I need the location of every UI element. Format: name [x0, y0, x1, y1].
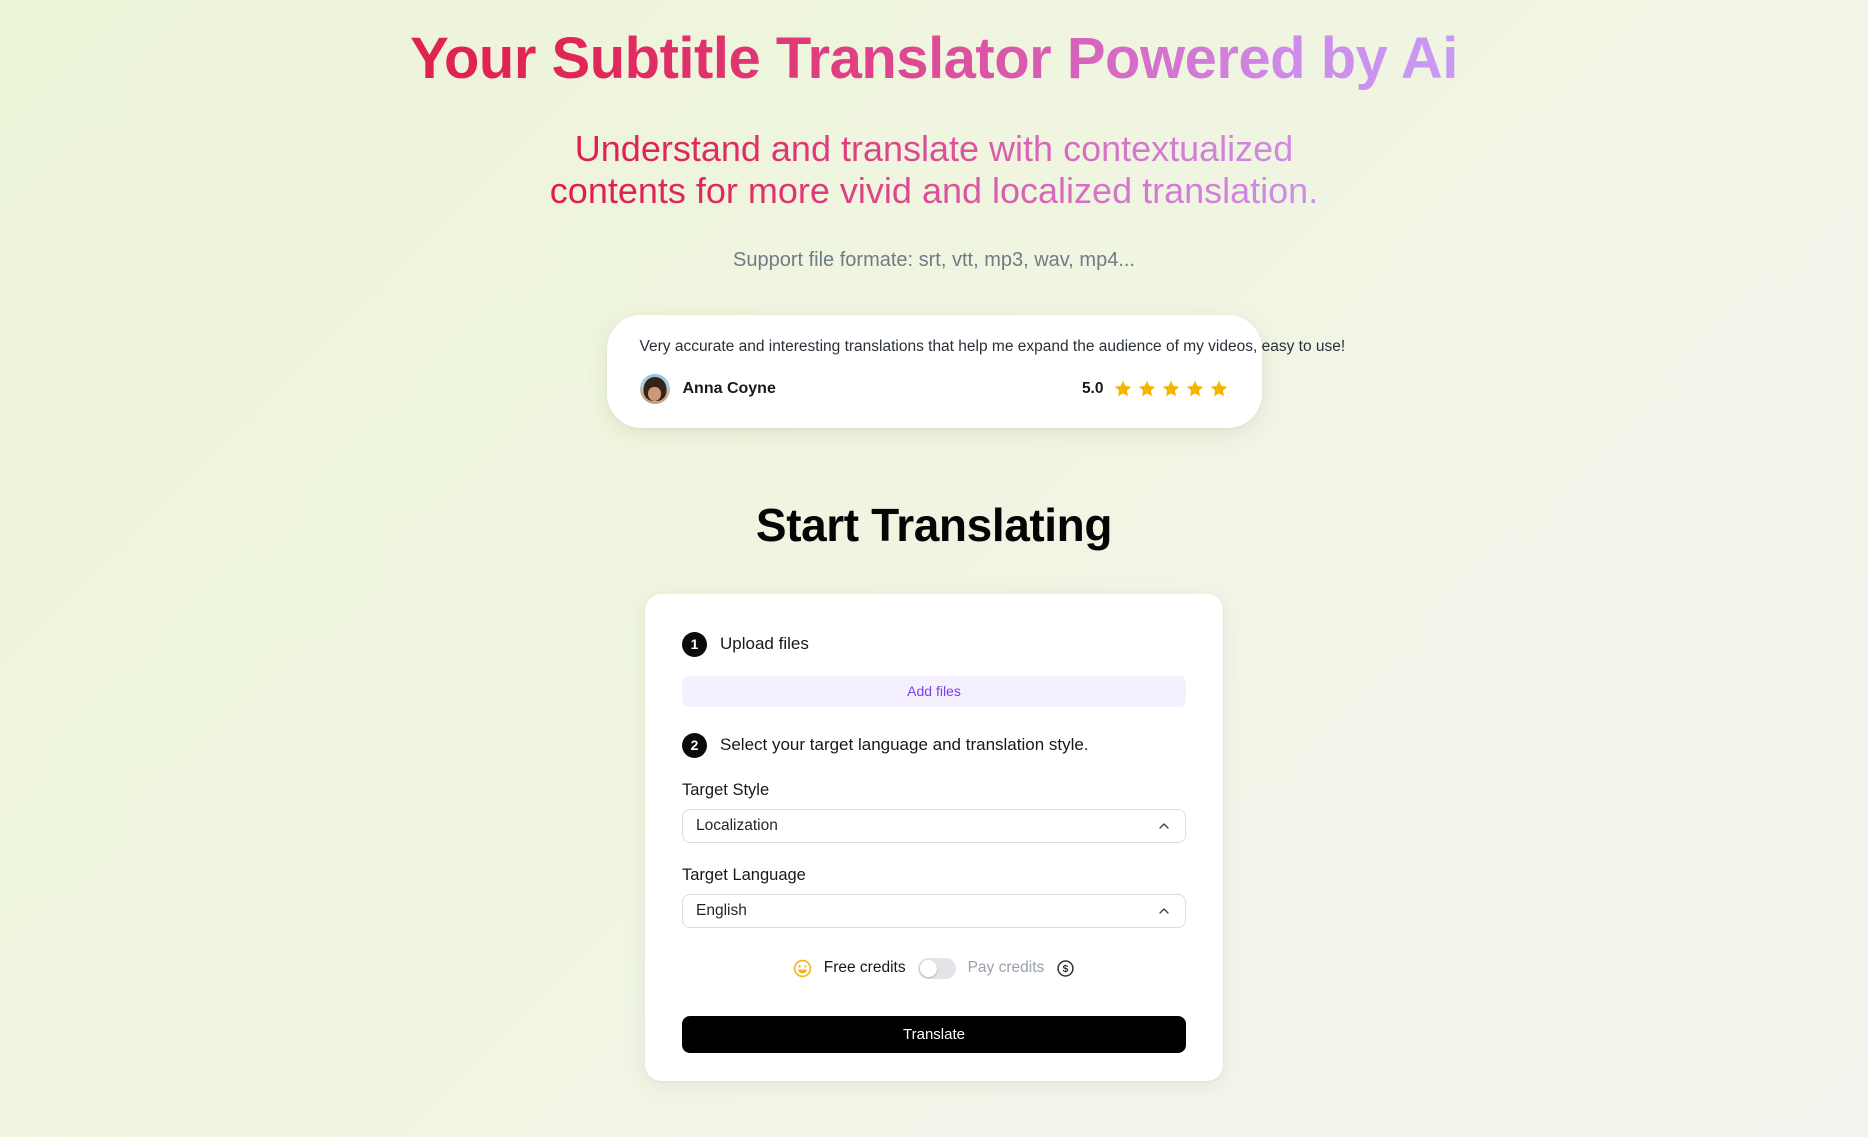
- target-language-value: English: [696, 902, 747, 920]
- testimonial-card: Very accurate and interesting translatio…: [607, 315, 1262, 428]
- credits-toggle-switch[interactable]: [918, 958, 956, 979]
- target-style-value: Localization: [696, 817, 778, 835]
- chevron-up-icon: [1156, 903, 1172, 919]
- dollar-circle-icon: $: [1056, 959, 1075, 978]
- target-language-select[interactable]: English: [682, 894, 1186, 928]
- star-icon: [1137, 379, 1157, 399]
- rating-block: 5.0: [1082, 379, 1229, 399]
- add-files-button[interactable]: Add files: [682, 676, 1186, 707]
- avatar: [640, 374, 670, 404]
- star-icon: [1113, 379, 1133, 399]
- translate-button[interactable]: Translate: [682, 1016, 1186, 1053]
- rating-score: 5.0: [1082, 380, 1104, 398]
- step-2-badge: 2: [682, 733, 707, 758]
- section-title: Start Translating: [756, 498, 1112, 552]
- star-rating: [1113, 379, 1229, 399]
- step-1-label: Upload files: [720, 634, 809, 654]
- target-style-select[interactable]: Localization: [682, 809, 1186, 843]
- free-credits-label: Free credits: [824, 959, 906, 977]
- hero-subtitle-line-1: Understand and translate with contextual…: [550, 128, 1318, 170]
- avatar-hair: [643, 377, 666, 401]
- step-2-label: Select your target language and translat…: [720, 735, 1089, 755]
- chevron-up-icon: [1156, 818, 1172, 834]
- star-icon: [1161, 379, 1181, 399]
- hero-subtitle-line-2: contents for more vivid and localized tr…: [550, 170, 1318, 212]
- credits-toggle-row: Free credits Pay credits $: [682, 958, 1186, 979]
- supported-formats-text: Support file formate: srt, vtt, mp3, wav…: [733, 249, 1135, 272]
- testimonial-footer: Anna Coyne 5.0: [640, 374, 1229, 404]
- smiley-face-icon: [793, 959, 812, 978]
- star-icon: [1185, 379, 1205, 399]
- hero-subtitle: Understand and translate with contextual…: [550, 128, 1318, 213]
- translation-form-card: 1 Upload files Add files 2 Select your t…: [645, 594, 1223, 1081]
- testimonial-author-name: Anna Coyne: [683, 380, 776, 398]
- step-2-row: 2 Select your target language and transl…: [682, 733, 1186, 758]
- target-language-label: Target Language: [682, 866, 1186, 885]
- star-icon: [1209, 379, 1229, 399]
- target-style-label: Target Style: [682, 781, 1186, 800]
- svg-text:$: $: [1063, 964, 1069, 975]
- toggle-knob: [920, 960, 937, 977]
- page-title: Your Subtitle Translator Powered by Ai: [410, 26, 1458, 93]
- testimonial-author-block: Anna Coyne: [640, 374, 776, 404]
- landing-page: Your Subtitle Translator Powered by Ai U…: [0, 0, 1868, 1137]
- step-1-badge: 1: [682, 632, 707, 657]
- pay-credits-label: Pay credits: [968, 959, 1045, 977]
- testimonial-quote: Very accurate and interesting translatio…: [640, 337, 1229, 358]
- step-1-row: 1 Upload files: [682, 632, 1186, 657]
